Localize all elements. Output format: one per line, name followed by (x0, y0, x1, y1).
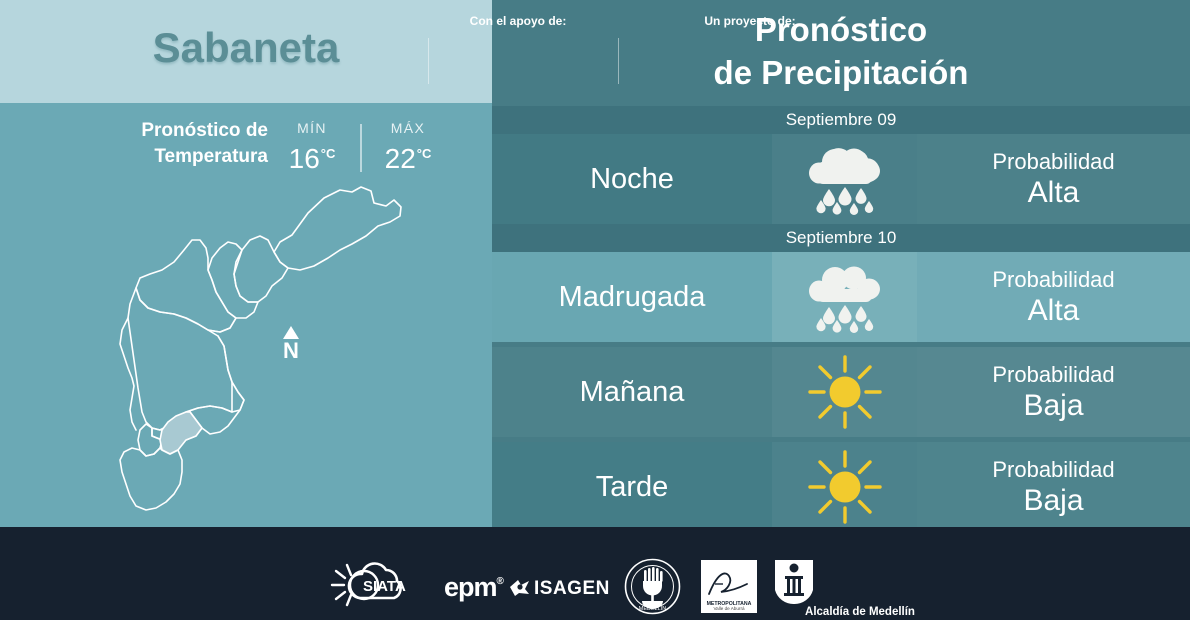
period-label: Mañana (492, 376, 772, 409)
isagen-wordmark: ISAGEN (534, 578, 610, 599)
probability-value: Baja (917, 389, 1190, 423)
aburra-valley-map (56, 178, 460, 522)
forecast-row-noche: Noche (492, 134, 1190, 224)
max-caption: MÁX (368, 118, 448, 138)
area-metropolitana-logo: METROPOLITANA Valle de Aburrá (701, 560, 757, 618)
temperature-label-line1: Pronóstico de (141, 120, 268, 141)
forecast-row-manana: Mañana Probabili (492, 347, 1190, 437)
min-temperature: MÍN 16°C (272, 118, 352, 175)
probability-cell: Probabilidad Baja (917, 347, 1190, 437)
probability-value: Alta (917, 176, 1190, 210)
footer (0, 527, 1190, 620)
rain-cloud-icon (772, 252, 917, 342)
max-number: 22 (385, 143, 416, 174)
probability-cell: Probabilidad Alta (917, 134, 1190, 224)
rain-cloud-icon (772, 134, 917, 224)
min-max-group: MÍN 16°C MÁX 22°C (272, 118, 472, 180)
compass-rose: N (276, 326, 306, 362)
probability-label: Probabilidad (917, 361, 1190, 389)
forecast-title-line2: de Precipitación (492, 51, 1190, 94)
epm-wordmark: epm (444, 572, 497, 602)
medellin-seal-text: MEDELLÍN (639, 605, 667, 612)
probability-label: Probabilidad (917, 266, 1190, 294)
period-label: Noche (492, 163, 772, 196)
precipitation-forecast-panel: Pronóstico de Precipitación Septiembre 0… (492, 0, 1190, 527)
max-temperature: MÁX 22°C (368, 118, 448, 175)
left-panel: Sabaneta Pronóstico de Temperatura MÍN 1… (0, 0, 492, 527)
min-max-divider (360, 124, 362, 172)
probability-cell: Probabilidad Alta (917, 252, 1190, 342)
footer-divider-2 (618, 38, 619, 84)
probability-label: Probabilidad (917, 148, 1190, 176)
probability-cell: Probabilidad Baja (917, 442, 1190, 532)
footer-divider-1 (428, 38, 429, 84)
page-title: Sabaneta (0, 24, 492, 72)
siata-logo: SIATA (330, 560, 425, 615)
date-band-sep09: Septiembre 09 (492, 106, 1190, 134)
probability-label: Probabilidad (917, 456, 1190, 484)
probability-value: Baja (917, 484, 1190, 518)
temperature-summary: Pronóstico de Temperatura MÍN 16°C MÁX 2… (0, 118, 492, 180)
min-caption: MÍN (272, 118, 352, 138)
temperature-label-line2: Temperatura (88, 144, 268, 170)
forecast-row-madrugada: Madrugada (492, 252, 1190, 342)
max-unit: °C (417, 146, 432, 161)
min-value: 16°C (272, 138, 352, 175)
forecast-row-tarde: Tarde Probabilid (492, 442, 1190, 532)
alcaldia-label: Alcaldía de Medellín (770, 606, 950, 618)
siata-wordmark: SIATA (363, 578, 406, 595)
probability-value: Alta (917, 294, 1190, 328)
min-number: 16 (289, 143, 320, 174)
alcaldia-shield-logo (771, 558, 817, 611)
period-label: Tarde (492, 471, 772, 504)
support-caption: Con el apoyo de: (404, 14, 632, 28)
weather-forecast-infographic: Sabaneta Pronóstico de Temperatura MÍN 1… (0, 0, 1190, 620)
date-band-sep10: Septiembre 10 (492, 224, 1190, 252)
max-value: 22°C (368, 138, 448, 175)
project-caption: Un proyecto de: (660, 14, 840, 28)
min-unit: °C (321, 146, 336, 161)
period-label: Madrugada (492, 281, 772, 314)
epm-registered-mark: ® (497, 576, 503, 587)
epm-logo: epm® (444, 572, 503, 603)
area-line2: Valle de Aburrá (713, 606, 745, 611)
medellin-seal-logo: MEDELLÍN (624, 558, 681, 620)
isagen-logo: ISAGEN (509, 578, 610, 600)
compass-north-label: N (276, 340, 306, 362)
sun-icon (772, 442, 917, 532)
sun-icon (772, 347, 917, 437)
temperature-label: Pronóstico de Temperatura (88, 118, 268, 170)
